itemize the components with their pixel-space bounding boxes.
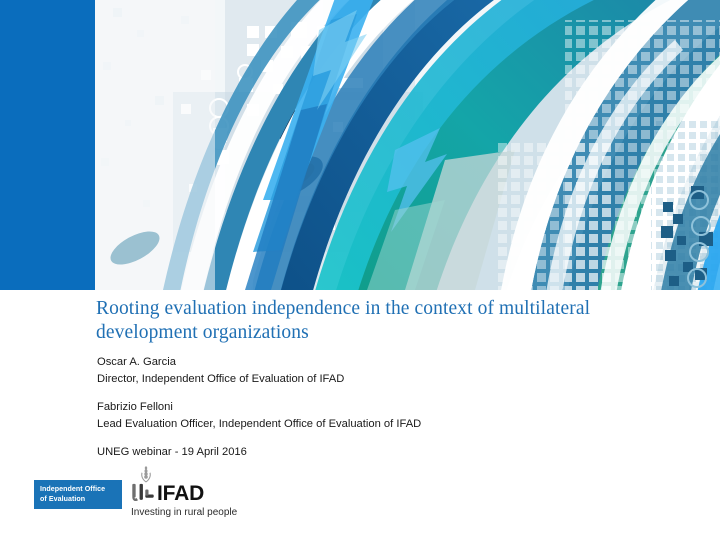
ifad-tagline: Investing in rural people <box>131 507 237 518</box>
presenter-1-role: Director, Independent Office of Evaluati… <box>97 371 657 388</box>
presenter-1: Oscar A. Garcia Director, Independent Of… <box>97 354 657 387</box>
ioe-logo-badge: Independent Office of Evaluation <box>34 480 122 509</box>
presenter-2-name: Fabrizio Felloni <box>97 399 657 416</box>
abstract-banner-graphic <box>95 0 720 290</box>
ioe-logo-line-1: Independent Office <box>40 485 122 495</box>
slide-title: Rooting evaluation independence in the c… <box>96 297 686 345</box>
ifad-wordmark-row: IFAD <box>130 481 204 505</box>
logo-row: Independent Office of Evaluation <box>34 466 294 526</box>
presentation-slide: Rooting evaluation independence in the c… <box>0 0 720 540</box>
ifad-arabic-mark-icon <box>130 482 156 504</box>
presenter-block: Oscar A. Garcia Director, Independent Of… <box>97 354 657 461</box>
left-blue-panel <box>0 0 95 290</box>
presenter-1-name: Oscar A. Garcia <box>97 354 657 371</box>
ifad-wordmark: IFAD <box>157 483 204 504</box>
ioe-logo-line-2: of Evaluation <box>40 495 122 505</box>
event-name-date: UNEG webinar - 19 April 2016 <box>97 444 657 461</box>
presenter-2-role: Lead Evaluation Officer, Independent Off… <box>97 416 657 433</box>
slide-banner <box>0 0 720 290</box>
ifad-logo: IFAD Investing in rural people <box>130 466 280 524</box>
event-info: UNEG webinar - 19 April 2016 <box>97 444 657 461</box>
presenter-2: Fabrizio Felloni Lead Evaluation Officer… <box>97 399 657 432</box>
